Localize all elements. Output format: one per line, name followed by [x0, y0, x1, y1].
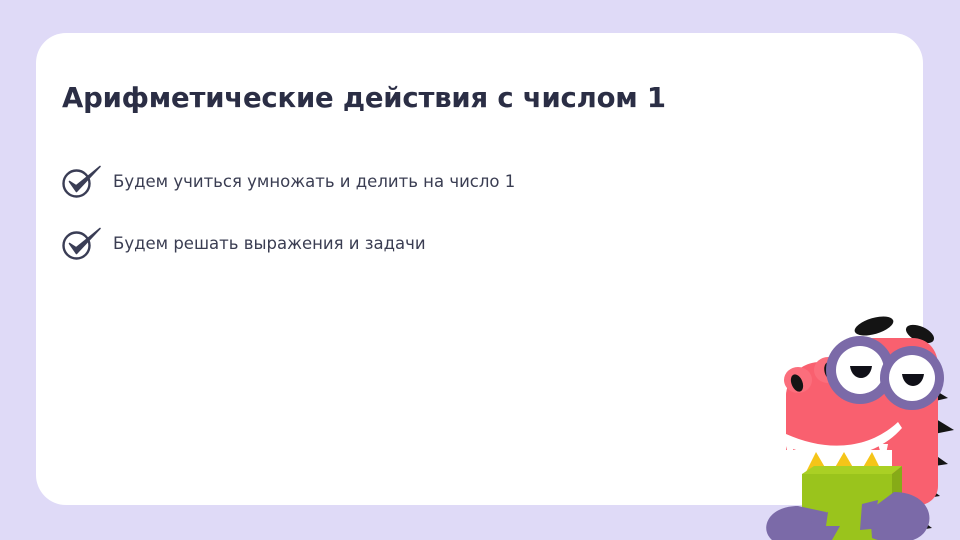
- page-title: Арифметические действия с числом 1: [62, 82, 862, 114]
- slide-root: Арифметические действия с числом 1 Будем…: [0, 0, 960, 540]
- check-circle-icon: [60, 222, 106, 262]
- list-item-label: Будем учиться умножать и делить на число…: [113, 162, 515, 191]
- list-item: Будем учиться умножать и делить на число…: [60, 162, 820, 224]
- check-circle-icon: [60, 160, 106, 200]
- dinosaur-with-book-mascot: [742, 300, 960, 540]
- objectives-list: Будем учиться умножать и делить на число…: [60, 162, 820, 286]
- list-item-label: Будем решать выражения и задачи: [113, 224, 426, 253]
- list-item: Будем решать выражения и задачи: [60, 224, 820, 286]
